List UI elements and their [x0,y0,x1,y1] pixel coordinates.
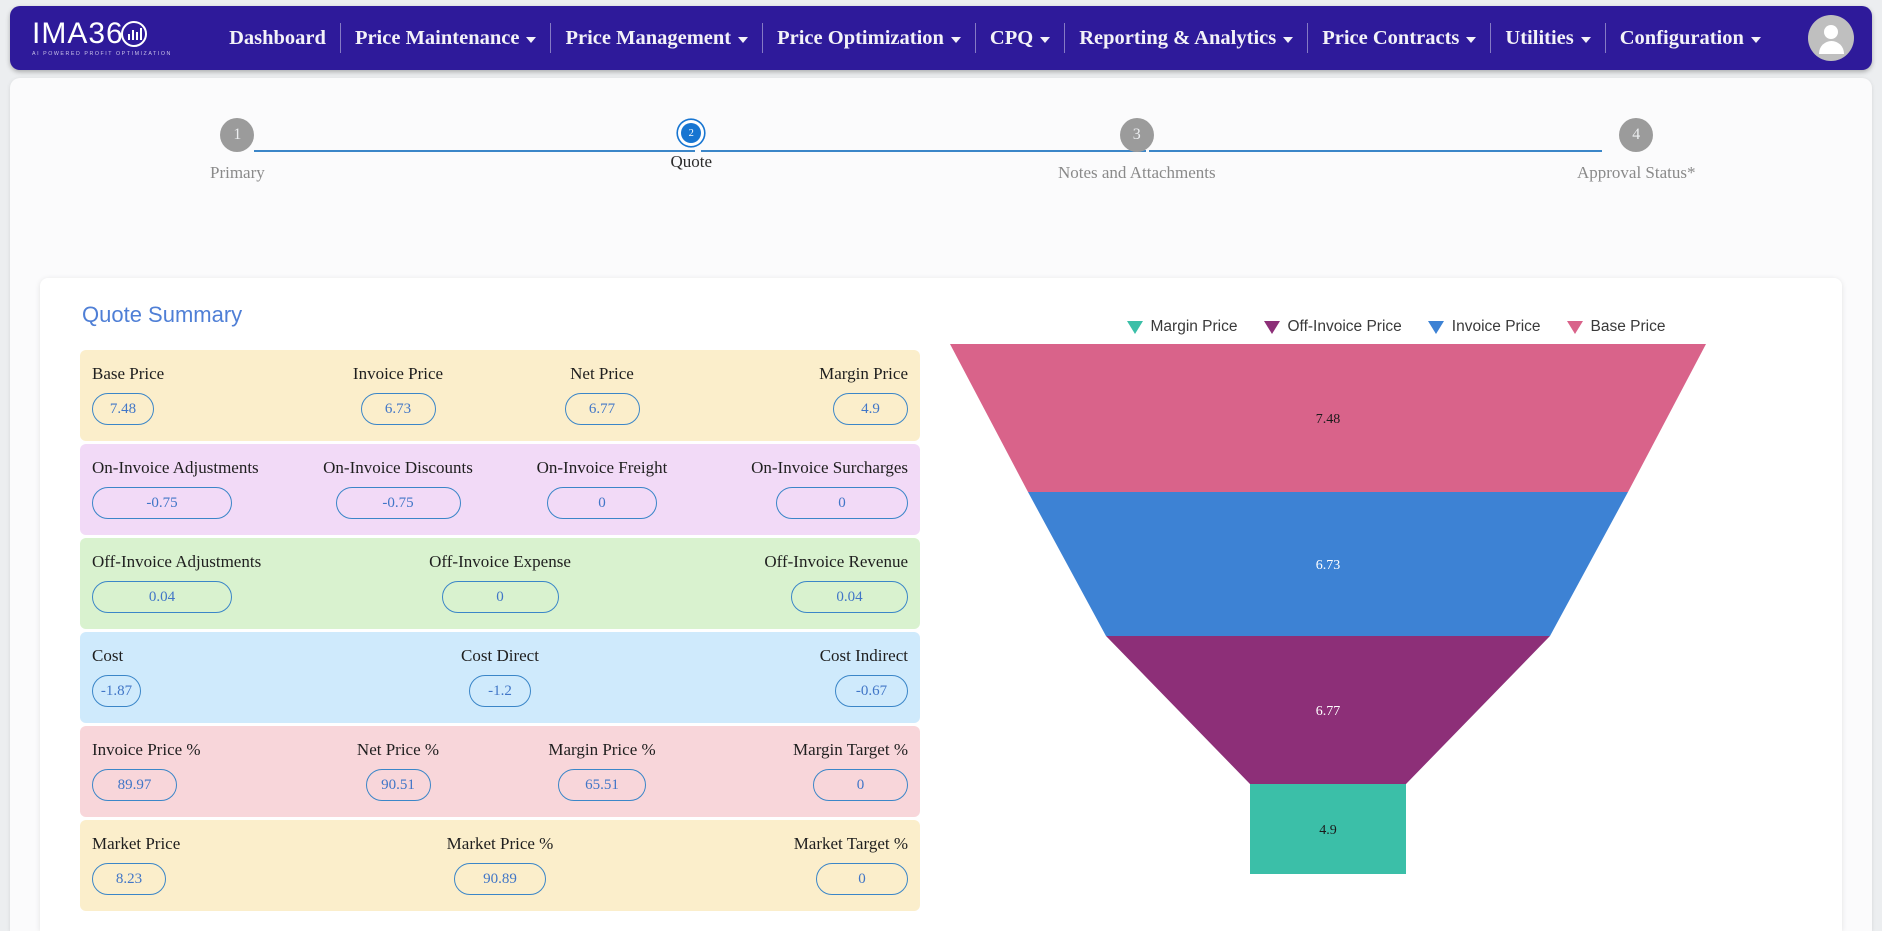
field-value-input[interactable]: 0.04 [791,581,908,613]
step-label: Notes and Attachments [1058,163,1216,183]
nav-label: Reporting & Analytics [1079,23,1276,53]
field-group: Margin Price %65.51 [500,740,704,801]
field-group: Base Price7.48 [92,364,296,425]
nav-item-reporting-analytics[interactable]: Reporting & Analytics [1064,23,1307,53]
legend-item[interactable]: Off-Invoice Price [1264,318,1402,336]
legend-label: Base Price [1591,318,1666,336]
nav-label: Configuration [1620,23,1744,53]
chevron-down-icon [1283,37,1293,43]
field-label: Off-Invoice Revenue [764,552,908,572]
step-number-badge: 3 [1120,118,1154,152]
legend-item[interactable]: Margin Price [1127,318,1238,336]
main-menu: Dashboard Price Maintenance Price Manage… [182,23,1808,53]
field-label: Margin Target % [793,740,908,760]
nav-item-utilities[interactable]: Utilities [1490,23,1604,53]
field-group: Cost-1.87 [92,646,364,707]
field-group: Cost Indirect-0.67 [636,646,908,707]
field-group: Margin Price4.9 [704,364,908,425]
triangle-down-icon [1264,321,1280,334]
field-value-input[interactable]: 8.23 [92,863,166,895]
brand-wordmark: IMA36 [32,19,124,49]
field-group: Cost Direct-1.2 [364,646,636,707]
field-label: On-Invoice Freight [537,458,668,478]
nav-label: Price Contracts [1322,23,1459,53]
market-band: Market Price8.23Market Price %90.89Marke… [80,820,920,911]
step-connector-3-4 [1149,150,1602,152]
field-value-input[interactable]: 4.9 [833,393,908,425]
chevron-down-icon [738,37,748,43]
field-label: Market Price % [447,834,554,854]
funnel-legend: Margin PriceOff-Invoice PriceInvoice Pri… [950,318,1842,336]
brand-tagline: AI POWERED PROFIT OPTIMIZATION [32,51,182,57]
nav-item-cpq[interactable]: CPQ [975,23,1064,53]
field-label: Invoice Price % [92,740,201,760]
on-invoice-band: On-Invoice Adjustments-0.75On-Invoice Di… [80,444,920,535]
legend-label: Margin Price [1151,318,1238,336]
field-label: On-Invoice Surcharges [751,458,908,478]
field-value-input[interactable]: 90.89 [454,863,546,895]
field-label: Cost [92,646,123,666]
nav-label: Dashboard [229,23,326,53]
field-value-input[interactable]: 0 [813,769,908,801]
step-quote[interactable]: 2 Quote [671,118,713,172]
page-title: Quote Summary [82,302,920,328]
quote-wizard-stepper: 1 Primary 2 Quote 3 Notes and Attachment… [210,118,1672,198]
nav-label: Price Maintenance [355,23,520,53]
field-label: Net Price % [357,740,439,760]
funnel-segment-label: 7.48 [1316,412,1341,427]
step-number-badge: 4 [1619,118,1653,152]
nav-label: Utilities [1505,23,1573,53]
field-group: Market Price %90.89 [364,834,636,895]
off-invoice-band: Off-Invoice Adjustments0.04Off-Invoice E… [80,538,920,629]
field-group: Off-Invoice Adjustments0.04 [92,552,364,613]
field-value-input[interactable]: 0 [547,487,657,519]
field-value-input[interactable]: -1.2 [469,675,531,707]
field-group: Net Price6.77 [500,364,704,425]
field-label: Margin Price [819,364,908,384]
chevron-down-icon [1581,37,1591,43]
nav-item-price-maintenance[interactable]: Price Maintenance [340,23,551,53]
bar-chart-circle-icon [121,21,147,47]
field-label: Cost Indirect [820,646,908,666]
quote-summary-bands: Base Price7.48Invoice Price6.73Net Price… [80,350,920,911]
field-value-input[interactable]: -1.87 [92,675,141,707]
field-value-input[interactable]: 89.97 [92,769,177,801]
triangle-down-icon [1127,321,1143,334]
field-value-input[interactable]: 90.51 [366,769,431,801]
field-label: Margin Price % [548,740,655,760]
step-label: Primary [210,163,265,183]
step-label: Approval Status* [1577,163,1696,183]
field-group: On-Invoice Freight0 [500,458,704,519]
step-label: Quote [671,152,713,172]
chevron-down-icon [1040,37,1050,43]
legend-item[interactable]: Invoice Price [1428,318,1541,336]
field-value-input[interactable]: -0.75 [336,487,461,519]
legend-item[interactable]: Base Price [1567,318,1666,336]
avatar-body [1819,41,1844,54]
nav-label: Price Optimization [777,23,944,53]
funnel-segment-label: 4.9 [1319,823,1337,838]
nav-item-price-contracts[interactable]: Price Contracts [1307,23,1490,53]
field-group: Margin Target %0 [704,740,908,801]
user-avatar-icon[interactable] [1808,15,1854,61]
chevron-down-icon [526,37,536,43]
chevron-down-icon [951,37,961,43]
nav-item-dashboard[interactable]: Dashboard [215,23,340,53]
nav-item-price-management[interactable]: Price Management [550,23,762,53]
step-number-badge: 1 [220,118,254,152]
nav-item-configuration[interactable]: Configuration [1605,23,1775,53]
field-group: On-Invoice Discounts-0.75 [296,458,500,519]
field-value-input[interactable]: 6.73 [361,393,436,425]
brand-logo[interactable]: IMA36 AI POWERED PROFIT OPTIMIZATION [32,19,182,57]
field-label: Market Price [92,834,180,854]
field-label: Cost Direct [461,646,539,666]
field-value-input[interactable]: 0.04 [92,581,232,613]
field-group: Net Price %90.51 [296,740,500,801]
step-connector-1-2 [254,150,696,152]
field-label: Market Target % [794,834,908,854]
avatar-head [1824,25,1838,39]
top-navbar: IMA36 AI POWERED PROFIT OPTIMIZATION Das… [10,6,1872,70]
field-group: Off-Invoice Expense0 [364,552,636,613]
field-label: On-Invoice Discounts [323,458,473,478]
page-panel: 1 Primary 2 Quote 3 Notes and Attachment… [10,78,1872,931]
step-number-badge: 2 [681,123,701,143]
field-label: Net Price [570,364,634,384]
field-value-input[interactable]: 0 [776,487,908,519]
field-value-input[interactable]: 65.51 [558,769,646,801]
funnel-chart-svg[interactable]: 7.486.736.774.9 [950,344,1790,874]
quote-content-card: Quote Summary Base Price7.48Invoice Pric… [40,278,1842,931]
triangle-down-icon [1567,321,1583,334]
triangle-down-icon [1428,321,1444,334]
field-value-input[interactable]: 7.48 [92,393,154,425]
legend-label: Off-Invoice Price [1288,318,1402,336]
field-label: Off-Invoice Expense [429,552,571,572]
field-group: On-Invoice Adjustments-0.75 [92,458,296,519]
funnel-segment-label: 6.77 [1316,704,1341,719]
nav-label: CPQ [990,23,1033,53]
quote-summary-panel: Quote Summary Base Price7.48Invoice Pric… [40,278,950,931]
field-group: Invoice Price %89.97 [92,740,296,801]
field-group: On-Invoice Surcharges0 [704,458,908,519]
field-value-input[interactable]: 6.77 [565,393,640,425]
funnel-segment-label: 6.73 [1316,558,1341,573]
field-value-input[interactable]: -0.67 [835,675,908,707]
nav-item-price-optimization[interactable]: Price Optimization [762,23,975,53]
field-group: Market Price8.23 [92,834,364,895]
field-group: Off-Invoice Revenue0.04 [636,552,908,613]
field-value-input[interactable]: 0 [816,863,908,895]
price-band: Base Price7.48Invoice Price6.73Net Price… [80,350,920,441]
field-label: Base Price [92,364,164,384]
field-value-input[interactable]: 0 [442,581,559,613]
field-value-input[interactable]: -0.75 [92,487,232,519]
field-group: Invoice Price6.73 [296,364,500,425]
step-connector-2-3 [701,150,1145,152]
field-label: On-Invoice Adjustments [92,458,259,478]
cost-band: Cost-1.87Cost Direct-1.2Cost Indirect-0.… [80,632,920,723]
funnel-chart: 7.486.736.774.9 [950,344,1842,931]
field-group: Market Target %0 [636,834,908,895]
field-label: Invoice Price [353,364,443,384]
brand-row: IMA36 [32,19,182,49]
chevron-down-icon [1466,37,1476,43]
funnel-chart-panel: Margin PriceOff-Invoice PriceInvoice Pri… [950,278,1842,931]
percent-band: Invoice Price %89.97Net Price %90.51Marg… [80,726,920,817]
field-label: Off-Invoice Adjustments [92,552,261,572]
nav-label: Price Management [565,23,731,53]
chevron-down-icon [1751,37,1761,43]
legend-label: Invoice Price [1452,318,1541,336]
